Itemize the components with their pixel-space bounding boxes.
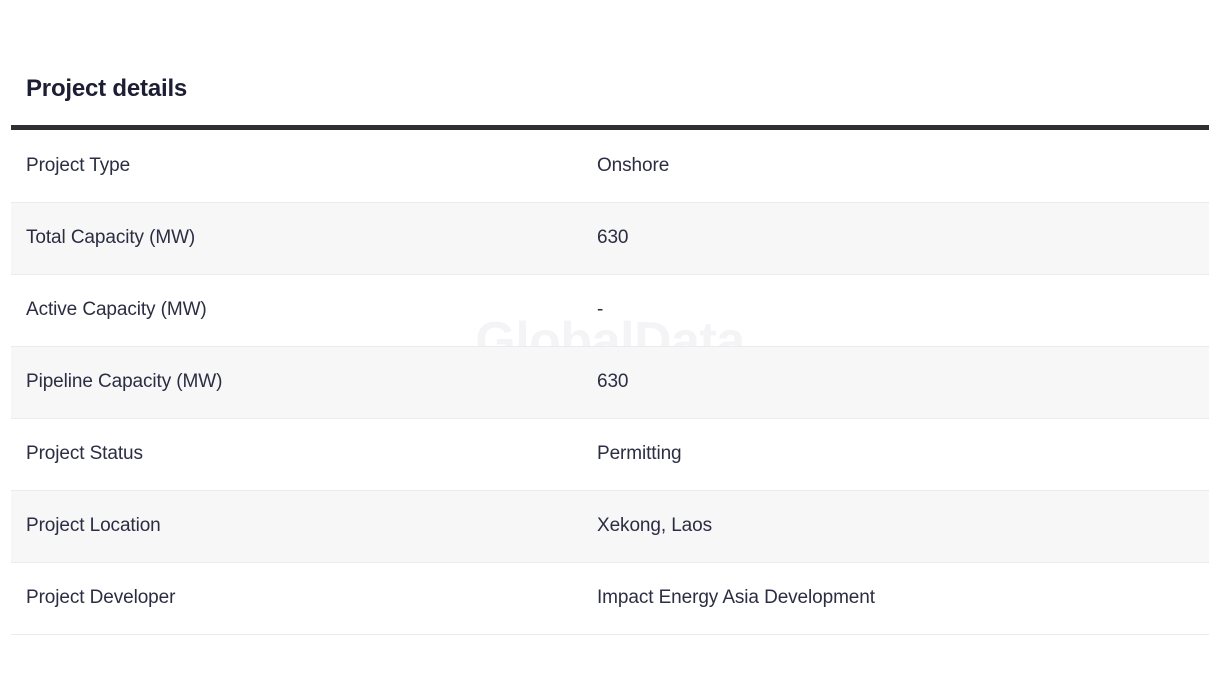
row-value: Onshore — [597, 130, 1209, 202]
row-label: Project Location — [11, 490, 597, 562]
project-details-table: Project Type Onshore Total Capacity (MW)… — [11, 130, 1209, 635]
row-label: Project Type — [11, 130, 597, 202]
table-row: Project Type Onshore — [11, 130, 1209, 202]
row-label: Project Status — [11, 418, 597, 490]
table-body: Project Type Onshore Total Capacity (MW)… — [11, 130, 1209, 634]
page-title: Project details — [11, 0, 1209, 104]
row-label: Total Capacity (MW) — [11, 202, 597, 274]
row-label: Project Developer — [11, 562, 597, 634]
table-row: Active Capacity (MW) - — [11, 274, 1209, 346]
table-row: Project Developer Impact Energy Asia Dev… — [11, 562, 1209, 634]
project-details-panel: Project details Project Type Onshore Tot… — [11, 0, 1209, 635]
row-value: - — [597, 274, 1209, 346]
row-label: Active Capacity (MW) — [11, 274, 597, 346]
table-row: Pipeline Capacity (MW) 630 — [11, 346, 1209, 418]
row-label: Pipeline Capacity (MW) — [11, 346, 597, 418]
row-value: 630 — [597, 346, 1209, 418]
table-row: Total Capacity (MW) 630 — [11, 202, 1209, 274]
project-details-page: GlobalData Project details Project Type … — [0, 0, 1220, 674]
table-row: Project Status Permitting — [11, 418, 1209, 490]
table-row: Project Location Xekong, Laos — [11, 490, 1209, 562]
row-value: Impact Energy Asia Development — [597, 562, 1209, 634]
row-value: Xekong, Laos — [597, 490, 1209, 562]
row-value: 630 — [597, 202, 1209, 274]
row-value: Permitting — [597, 418, 1209, 490]
